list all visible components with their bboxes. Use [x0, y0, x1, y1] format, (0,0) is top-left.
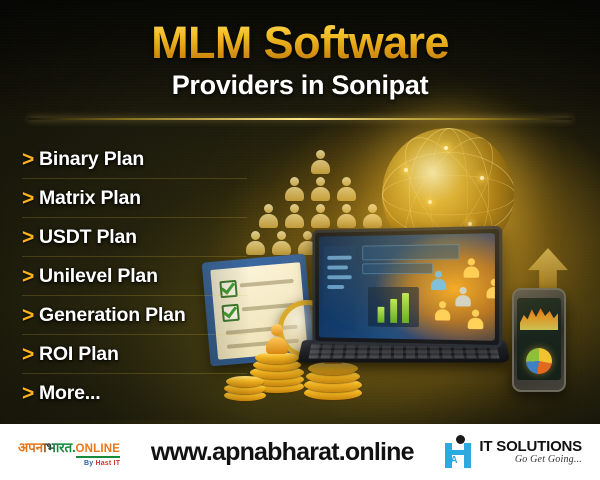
laptop-lid: [312, 226, 502, 348]
laptop-dashboard-graphic: [300, 228, 510, 368]
network-person-icon: [431, 271, 446, 291]
partner-tagline: Go Get Going...: [479, 454, 582, 465]
person-icon: [285, 177, 304, 202]
chevron-right-icon: >: [22, 305, 39, 326]
dashboard-bar-chart: [368, 287, 419, 327]
chevron-right-icon: >: [22, 188, 39, 209]
person-icon: [259, 204, 278, 229]
chevron-right-icon: >: [22, 344, 39, 365]
phone-pie-chart: [526, 348, 552, 374]
network-person-icon: [486, 279, 494, 300]
plan-feature-list: > Binary Plan > Matrix Plan > USDT Plan …: [22, 140, 247, 412]
it-solutions-logo[interactable]: A IT SOLUTIONS Go Get Going...: [444, 435, 582, 469]
pyramid-row: [236, 150, 404, 175]
network-person-icon: [435, 301, 450, 321]
person-icon: [311, 177, 330, 202]
network-person-icon: [464, 258, 480, 279]
list-item-label: Unilevel Plan: [39, 265, 158, 288]
person-icon: [363, 204, 382, 229]
person-icon: [272, 231, 291, 256]
list-item[interactable]: > Matrix Plan: [22, 179, 247, 218]
brand-wordmark: अपनाभारत. ONLINE: [18, 438, 120, 458]
pyramid-row: [236, 204, 404, 229]
apnabharat-logo[interactable]: अपनाभारत. ONLINE By Hast IT: [18, 438, 120, 467]
person-icon: [246, 231, 265, 256]
list-item-label: More...: [39, 382, 100, 405]
globe-node: [428, 200, 432, 204]
it-solutions-mark-icon: A: [444, 435, 474, 469]
network-person-icon: [468, 310, 484, 331]
dashboard-panel: [362, 263, 433, 274]
list-item-label: Binary Plan: [39, 148, 144, 171]
title-divider: [28, 118, 572, 120]
list-item-label: USDT Plan: [39, 226, 137, 249]
person-icon: [311, 150, 330, 175]
globe-node: [480, 176, 484, 180]
list-item[interactable]: > Generation Plan: [22, 296, 247, 335]
brand-byline-prefix: By: [84, 460, 96, 467]
phone-screen: [517, 298, 561, 380]
chevron-right-icon: >: [22, 227, 39, 248]
brand-byline: By Hast IT: [84, 460, 120, 467]
person-icon: [285, 204, 304, 229]
website-url[interactable]: www.apnabharat.online: [151, 438, 414, 467]
chevron-right-icon: >: [22, 383, 39, 404]
list-item[interactable]: > Unilevel Plan: [22, 257, 247, 296]
banner-header: MLM Software Providers in Sonipat: [0, 0, 600, 132]
globe-node: [404, 168, 408, 172]
globe-node: [444, 146, 448, 150]
page-subtitle: Providers in Sonipat: [0, 70, 600, 101]
list-item[interactable]: > USDT Plan: [22, 218, 247, 257]
network-person-icon: [455, 287, 470, 308]
logo-right-stroke: [464, 443, 471, 468]
list-item-label: Generation Plan: [39, 304, 186, 327]
brand-byline-company: Hast IT: [95, 460, 120, 467]
partner-name: IT SOLUTIONS: [479, 439, 582, 455]
footer-bar: अपनाभारत. ONLINE By Hast IT www.apnabhar…: [0, 424, 600, 480]
phone-area-chart: [520, 302, 558, 330]
coin-figure-icon: [266, 324, 288, 354]
dashboard-panel: [362, 244, 459, 260]
brand-hindi-text: अपनाभारत.: [18, 438, 76, 456]
globe-node: [468, 222, 472, 226]
list-item[interactable]: > More...: [22, 374, 247, 412]
page-title: MLM Software: [0, 0, 600, 66]
list-item-label: Matrix Plan: [39, 187, 141, 210]
list-item[interactable]: > ROI Plan: [22, 335, 247, 374]
clipboard-line: [240, 279, 294, 288]
person-icon: [337, 204, 356, 229]
smartphone-charts-graphic: [512, 288, 566, 392]
pyramid-row: [236, 177, 404, 202]
person-icon: [311, 204, 330, 229]
laptop-screen: [319, 233, 495, 341]
chevron-right-icon: >: [22, 149, 39, 170]
list-item-label: ROI Plan: [39, 343, 119, 366]
logo-letter-a: A: [450, 455, 457, 466]
person-icon: [337, 177, 356, 202]
list-item[interactable]: > Binary Plan: [22, 140, 247, 179]
chevron-right-icon: >: [22, 266, 39, 287]
logo-cross-stroke: [445, 450, 471, 455]
mlm-software-promo-banner: MLM Software Providers in Sonipat > Bina…: [0, 0, 600, 480]
partner-text-block: IT SOLUTIONS Go Get Going...: [479, 439, 582, 466]
brand-online-text: ONLINE: [76, 443, 121, 458]
